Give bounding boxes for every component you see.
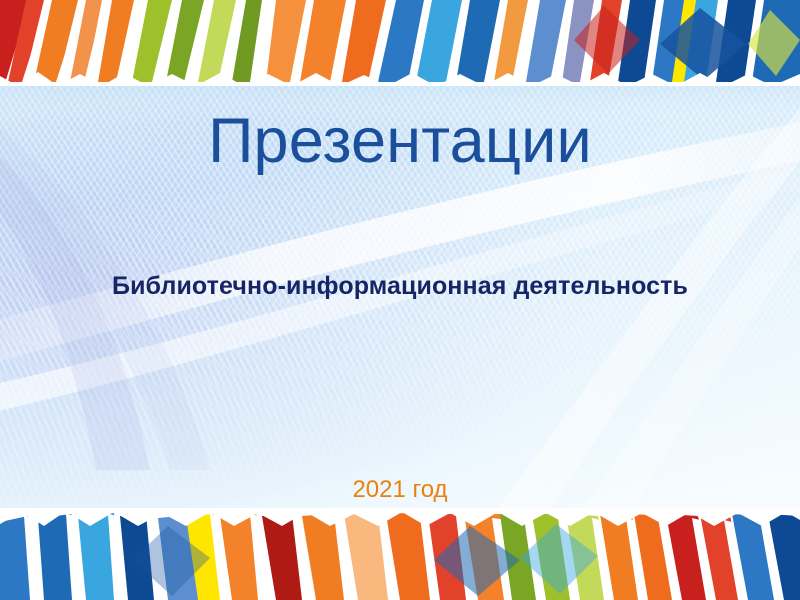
presentation-slide: Презентации Библиотечно-информационная д…	[0, 0, 800, 600]
slide-title: Презентации	[0, 108, 800, 174]
slide-year: 2021 год	[0, 476, 800, 504]
slide-subtitle: Библиотечно-информационная деятельность	[0, 272, 800, 301]
